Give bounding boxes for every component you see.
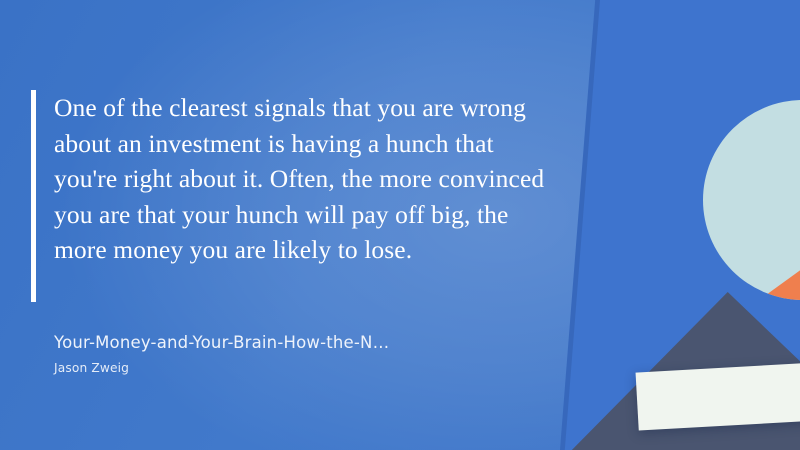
- attribution-block: Your-Money-and-Your-Brain-How-the-N… Jas…: [54, 332, 524, 376]
- quote-accent-bar: [31, 90, 36, 302]
- white-card-shape: [636, 361, 800, 430]
- quote-block: One of the clearest signals that you are…: [31, 90, 551, 268]
- source-title: Your-Money-and-Your-Brain-How-the-N…: [54, 332, 524, 354]
- source-author: Jason Zweig: [54, 361, 524, 376]
- quote-text: One of the clearest signals that you are…: [31, 90, 551, 268]
- quote-card: One of the clearest signals that you are…: [0, 0, 800, 450]
